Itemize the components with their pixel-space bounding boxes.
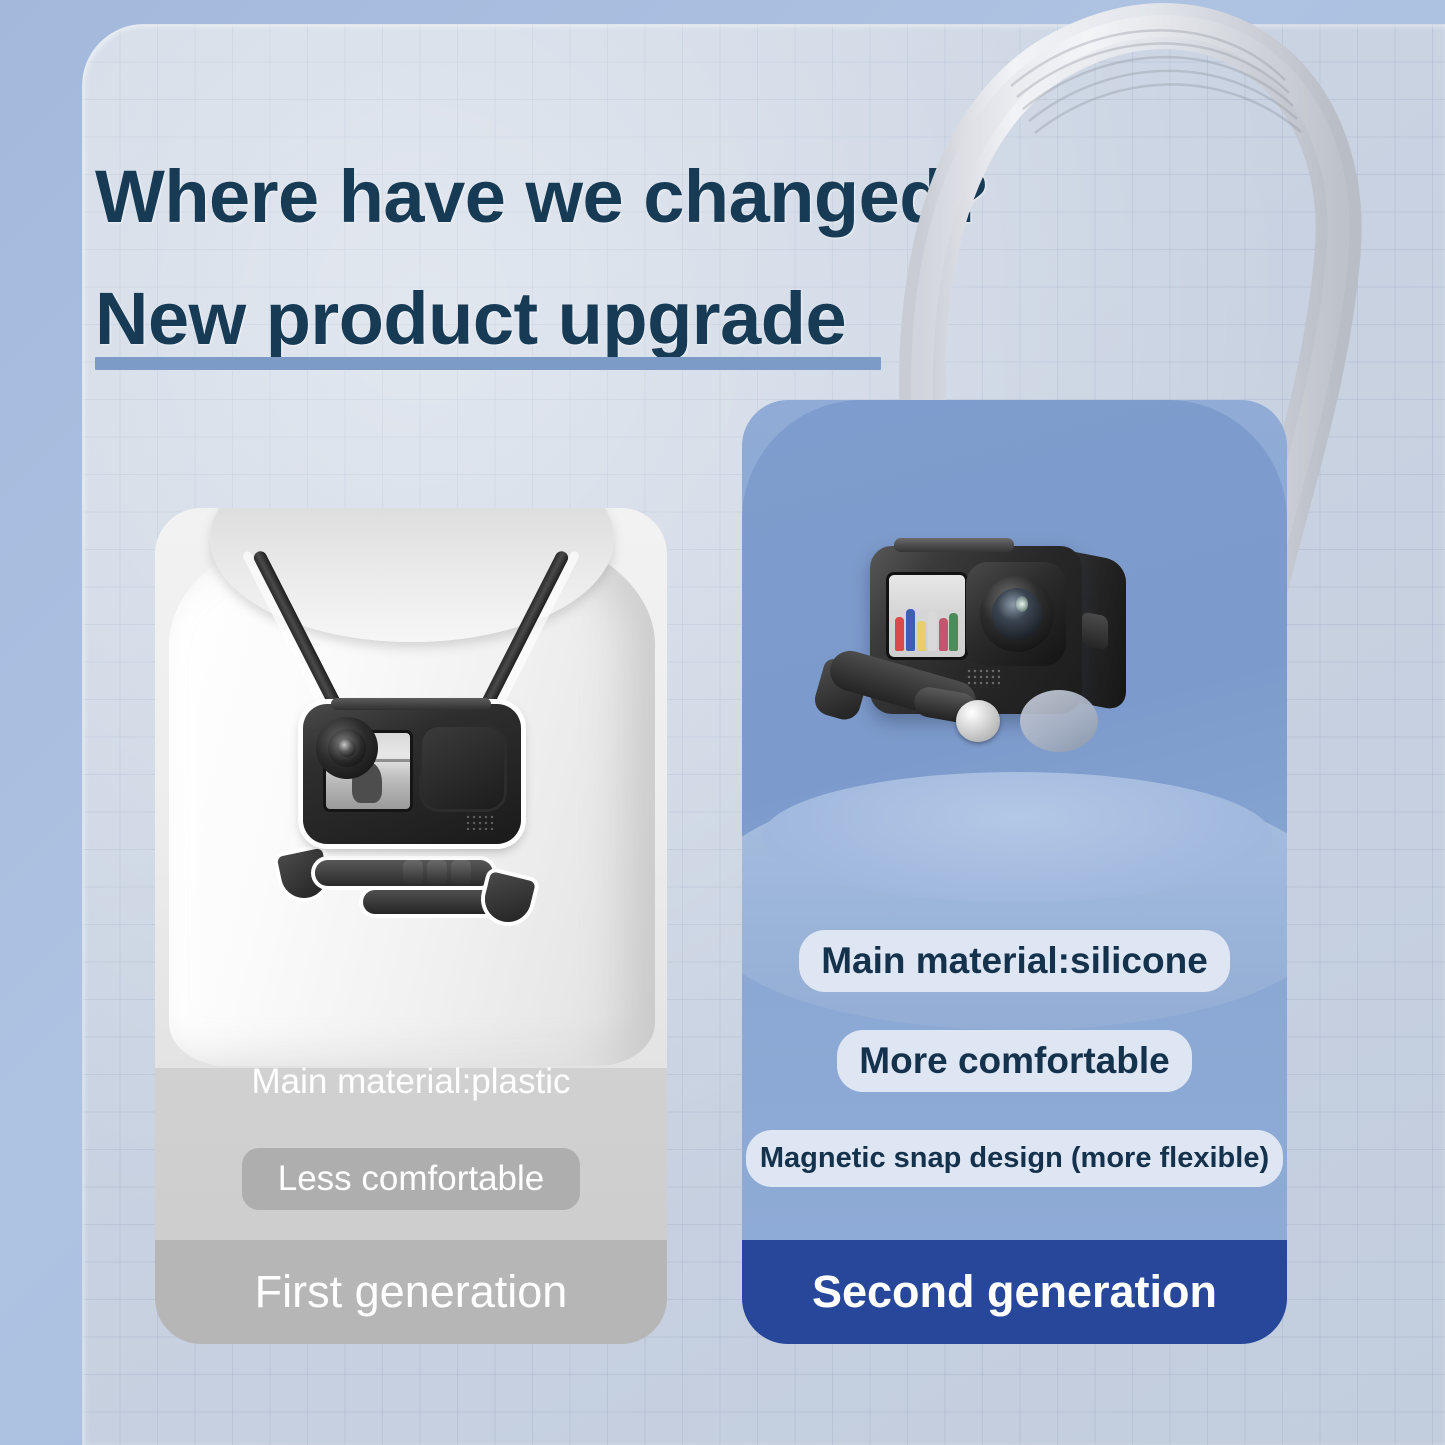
screen-person-4: [928, 611, 937, 651]
feature-material-plastic: Main material:plastic: [155, 1063, 667, 1102]
feature-material-silicone-wrap: Main material:silicone: [742, 930, 1287, 992]
infographic-root: Where have we changed? New product upgra…: [0, 0, 1445, 1445]
screen-person-6: [949, 613, 958, 651]
page-subtitle: New product upgrade: [95, 282, 846, 356]
camera-top-bar: [331, 698, 491, 710]
second-generation-features: Main material:silicone More comfortable …: [742, 930, 1287, 1187]
magnetic-snap-disc: [1020, 690, 1098, 752]
first-generation-label: First generation: [155, 1240, 667, 1344]
subtitle-underline: [95, 357, 881, 370]
feature-material-silicone: Main material:silicone: [799, 930, 1230, 992]
headline-block: Where have we changed? New product upgra…: [95, 160, 1075, 356]
product-podium-top: [762, 772, 1272, 902]
second-generation-panel: Main material:silicone More comfortable …: [742, 400, 1287, 1344]
adapter-knuckle-1: [403, 860, 423, 886]
feature-magnetic-snap: Magnetic snap design (more flexible): [746, 1130, 1283, 1187]
second-generation-label: Second generation: [742, 1240, 1287, 1344]
feature-less-comfortable: Less comfortable: [242, 1148, 581, 1210]
camera-top-cap: [894, 538, 1014, 552]
non-removable-adapters: [275, 838, 565, 928]
camera-speaker-grill-iso: [966, 668, 1000, 688]
screen-person-1: [895, 617, 904, 651]
feature-magnetic-snap-wrap: Magnetic snap design (more flexible): [742, 1130, 1287, 1187]
adapter-foot-right: [480, 871, 536, 927]
camera-lens-inner-iso: [992, 588, 1042, 640]
adapter-knuckle-2: [427, 860, 447, 886]
screen-person-3: [917, 621, 926, 651]
camera-shutter-button: [1082, 611, 1108, 650]
page-subtitle-wrap: New product upgrade: [95, 282, 846, 356]
mount-thumbscrew: [956, 700, 1000, 742]
page-title: Where have we changed?: [95, 160, 1075, 234]
screen-person-5: [939, 618, 948, 651]
adapter-bar-lower: [363, 890, 503, 914]
camera-front-screen-color: [886, 572, 968, 660]
first-generation-product-photo: [155, 508, 667, 1068]
action-camera-front: [303, 704, 521, 844]
camera-lens-glint: [1016, 596, 1028, 612]
camera-lens-housing: [419, 724, 507, 812]
action-camera-iso: [870, 540, 1140, 730]
feature-more-comfortable: More comfortable: [837, 1030, 1191, 1092]
camera-speaker-grill: [465, 814, 495, 830]
first-generation-panel: Main material:plastic Less comfortable A…: [155, 508, 667, 1344]
feature-less-comfortable-wrap: Less comfortable: [155, 1148, 667, 1210]
feature-more-comfortable-wrap: More comfortable: [742, 1030, 1287, 1092]
adapter-knuckle-3: [451, 860, 471, 886]
camera-lens-core: [338, 739, 356, 757]
screen-person-2: [906, 609, 915, 651]
